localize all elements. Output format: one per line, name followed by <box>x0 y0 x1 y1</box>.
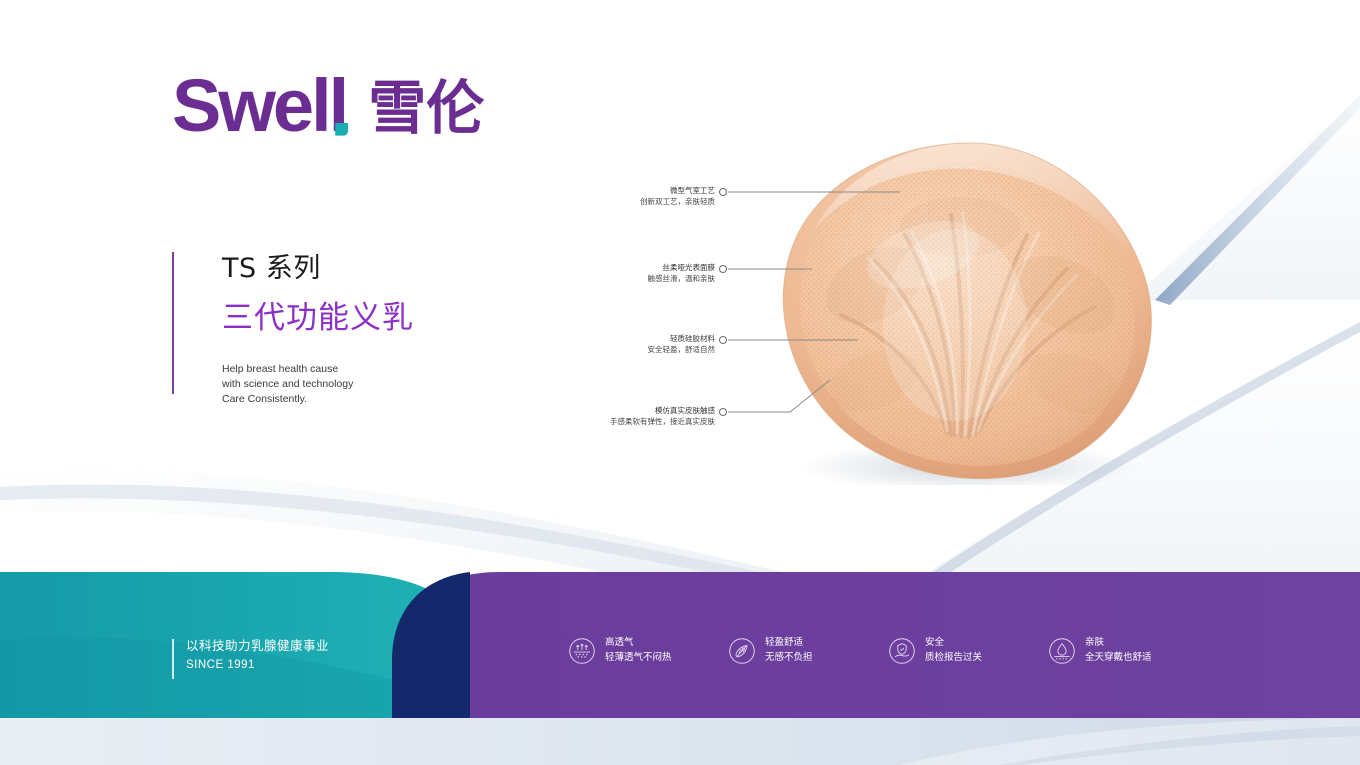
feature-1-title: 高透气 <box>605 636 672 651</box>
tagline-line-3: Care Consistently. <box>222 392 414 407</box>
feature-1-sub: 轻薄透气不闷热 <box>605 651 672 666</box>
logo-accent-dot <box>335 123 348 136</box>
product-series: TS 系列 <box>222 252 414 286</box>
callout-4-sub: 手感柔软有弹性，接近真实皮肤 <box>610 416 715 427</box>
callout-2-sub: 触感丝滑，温和亲肤 <box>648 273 716 284</box>
feather-icon <box>728 637 756 665</box>
poster-canvas: Swell 雪伦 TS 系列 三代功能义乳 Help breast health… <box>0 0 1360 765</box>
feature-4-title: 亲肤 <box>1085 636 1152 651</box>
mission-text: 以科技助力乳腺健康事业 <box>186 637 329 656</box>
breathable-icon <box>568 637 596 665</box>
callout-1-title: 微型气室工艺 <box>640 185 715 196</box>
callout-4-title: 模仿真实皮肤触感 <box>610 405 715 416</box>
logo-wordmark: Swell <box>172 73 346 140</box>
feature-3-title: 安全 <box>925 636 982 651</box>
english-tagline: Help breast health cause with science an… <box>222 362 414 408</box>
mission-tagline: 以科技助力乳腺健康事业 SINCE 1991 <box>172 637 329 674</box>
callout-3-title: 轻质硅胶材料 <box>648 333 716 344</box>
callout-3-sub: 安全轻盈，舒适自然 <box>648 344 716 355</box>
tagline-line-1: Help breast health cause <box>222 362 414 377</box>
feature-item-safety: 安全 质检报告过关 <box>888 636 1048 665</box>
product-image <box>755 135 1175 485</box>
feature-list: 高透气 轻薄透气不闷热 轻盈舒适 无感不负担 <box>568 636 1208 665</box>
safety-hand-icon <box>888 637 916 665</box>
feature-item-breathable: 高透气 轻薄透气不闷热 <box>568 636 728 665</box>
logo-wordmark-cn: 雪伦 <box>368 79 484 140</box>
droplet-icon <box>1048 637 1076 665</box>
feature-item-skinfriendly: 亲肤 全天穿戴也舒适 <box>1048 636 1208 665</box>
feature-item-light: 轻盈舒适 无感不负担 <box>728 636 888 665</box>
title-block: TS 系列 三代功能义乳 Help breast health cause wi… <box>172 252 414 407</box>
tagline-accent-rule <box>172 639 174 679</box>
tagline-line-2: with science and technology <box>222 377 414 392</box>
brand-logo: Swell 雪伦 <box>172 73 484 140</box>
title-accent-rule <box>172 252 174 394</box>
since-text: SINCE 1991 <box>186 656 329 674</box>
feature-2-title: 轻盈舒适 <box>765 636 813 651</box>
callout-2-title: 丝柔哑光表面膜 <box>648 262 716 273</box>
feature-2-sub: 无感不负担 <box>765 651 813 666</box>
page-title: 三代功能义乳 <box>222 292 414 337</box>
feature-4-sub: 全天穿戴也舒适 <box>1085 651 1152 666</box>
callout-1-sub: 创新双工艺，亲肤轻质 <box>640 196 715 207</box>
feature-3-sub: 质检报告过关 <box>925 651 982 666</box>
